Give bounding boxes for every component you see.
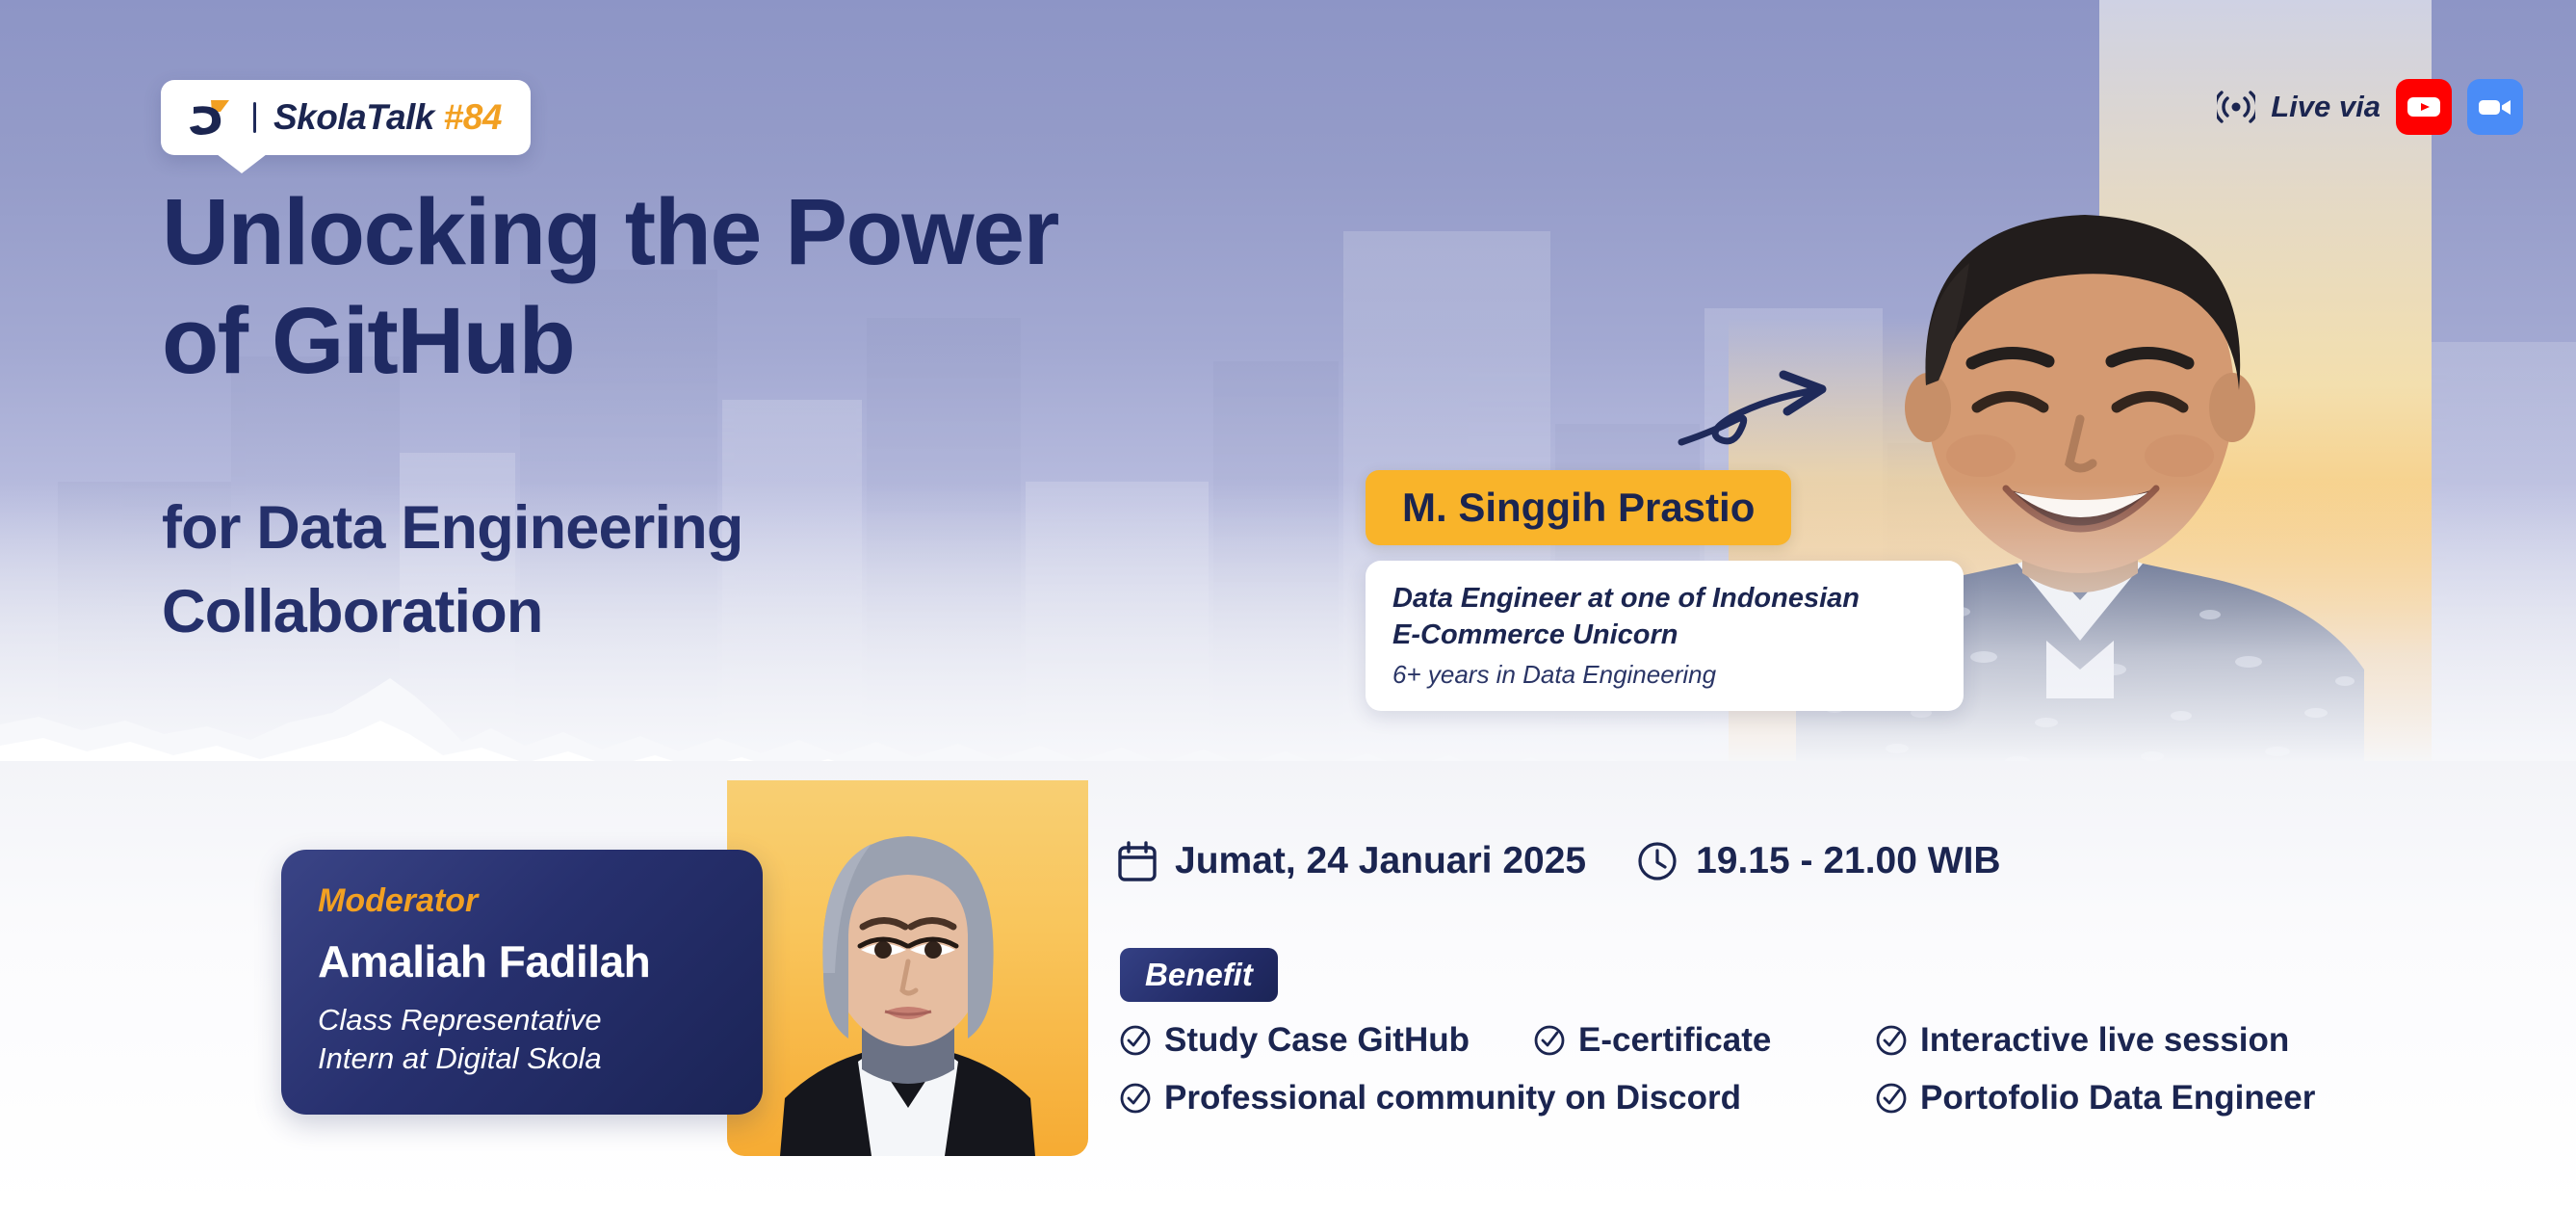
moderator-name: Amaliah Fadilah [318,935,726,987]
speaker-info-card: Data Engineer at one of Indonesian E-Com… [1366,561,1964,711]
badge-label: SkolaTalk #84 [273,97,502,138]
calendar-icon [1117,840,1158,882]
moderator-role: Class Representative Intern at Digital S… [318,1001,726,1077]
live-via-label: Live via [2271,90,2381,124]
skola-logo-icon [186,95,236,140]
live-via-group: Live via [2217,79,2523,135]
badge-tail [217,154,267,173]
benefit-item-label: Professional community on Discord [1164,1079,1741,1117]
webinar-promo-banner: SkolaTalk #84 Live via [0,0,2576,1209]
circle-check-icon [1876,1025,1907,1056]
benefit-heading: Benefit [1120,948,1278,1002]
event-time: 19.15 - 21.00 WIB [1636,840,2001,882]
benefit-item: Interactive live session [1876,1021,2289,1060]
benefit-item: Study Case GitHub [1120,1021,1534,1060]
speaker-role-line-2: E-Commerce Unicorn [1392,617,1937,653]
badge-separator [253,102,256,133]
benefit-item: Portofolio Data Engineer [1876,1079,2315,1117]
speaker-role-line-1: Data Engineer at one of Indonesian [1392,580,1937,617]
event-date-text: Jumat, 24 Januari 2025 [1175,840,1586,882]
title-line-1: Unlocking the Power [162,178,1433,287]
curved-arrow-icon [1676,361,1868,458]
badge-episode: #84 [444,97,502,137]
moderator-role-line-1: Class Representative [318,1001,726,1039]
benefit-row: Professional community on Discord Portof… [1120,1079,2315,1117]
benefit-row: Study Case GitHub E-certificate Interact… [1120,1021,2315,1060]
benefit-item-label: E-certificate [1578,1021,1771,1060]
speaker-experience: 6+ years in Data Engineering [1392,660,1937,690]
moderator-card: Moderator Amaliah Fadilah Class Represen… [281,850,763,1115]
moderator-photo [727,780,1088,1156]
moderator-label: Moderator [318,882,726,920]
benefit-item-label: Study Case GitHub [1164,1021,1470,1060]
circle-check-icon [1534,1025,1565,1056]
benefit-item: Professional community on Discord [1120,1079,1876,1117]
circle-check-icon [1876,1083,1907,1114]
subtitle-line-2: Collaboration [162,570,1221,654]
moderator-role-line-2: Intern at Digital Skola [318,1039,726,1078]
youtube-icon[interactable] [2396,79,2452,135]
page-subtitle: for Data Engineering Collaboration [162,486,1221,654]
title-line-2: of GitHub [162,287,1433,396]
circle-check-icon [1120,1083,1151,1114]
hero-background: SkolaTalk #84 Live via [0,0,2576,771]
event-time-text: 19.15 - 21.00 WIB [1696,840,2001,882]
badge-title: SkolaTalk [273,97,444,137]
speaker-role: Data Engineer at one of Indonesian E-Com… [1392,580,1937,654]
benefit-item-label: Interactive live session [1920,1021,2289,1060]
zoom-icon[interactable] [2467,79,2523,135]
torn-paper-divider [0,674,2576,771]
subtitle-line-1: for Data Engineering [162,486,1221,570]
event-date: Jumat, 24 Januari 2025 [1117,840,1586,882]
benefit-item-label: Portofolio Data Engineer [1920,1079,2315,1117]
circle-check-icon [1120,1025,1151,1056]
event-meta-row: Jumat, 24 Januari 2025 19.15 - 21.00 WIB [1117,840,2001,882]
skolatalk-badge[interactable]: SkolaTalk #84 [161,80,531,155]
speaker-name-badge: M. Singgih Prastio [1366,470,1791,545]
page-title: Unlocking the Power of GitHub [162,178,1433,395]
benefit-list: Study Case GitHub E-certificate Interact… [1120,1021,2315,1117]
benefit-item: E-certificate [1534,1021,1876,1060]
broadcast-icon [2217,90,2255,124]
clock-icon [1636,840,1678,882]
